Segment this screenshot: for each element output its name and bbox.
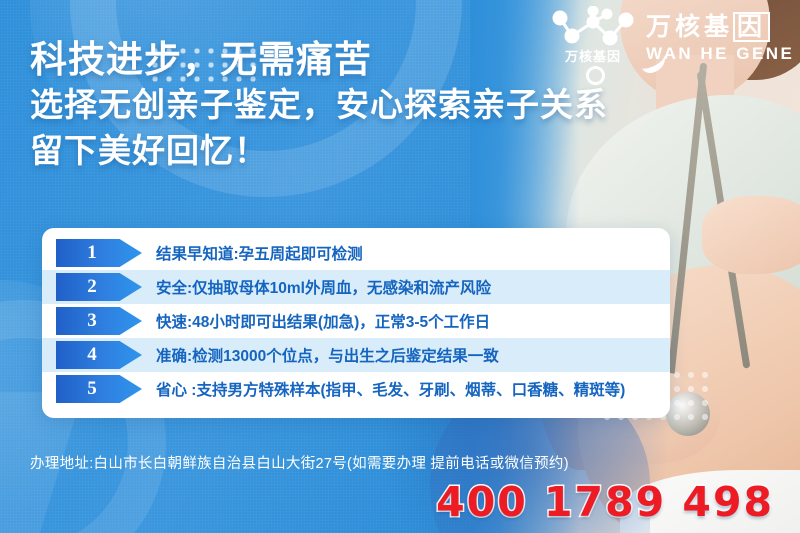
headline-line-3: 留下美好回忆！ xyxy=(30,128,608,174)
headline-block: 科技进步，无需痛苦 选择无创亲子鉴定，安心探索亲子关系 留下美好回忆！ xyxy=(30,38,608,174)
feature-text: 省心 :支持男方特殊样本(指甲、毛发、牙刷、烟蒂、口香糖、精斑等) xyxy=(156,378,625,400)
feature-number: 5 xyxy=(87,378,97,400)
feature-row: 5 省心 :支持男方特殊样本(指甲、毛发、牙刷、烟蒂、口香糖、精斑等) xyxy=(42,372,670,406)
brand-name-cn: 万核基因 xyxy=(646,12,794,42)
feature-row: 1 结果早知道:孕五周起即可检测 xyxy=(42,236,670,270)
feature-number-badge: 3 xyxy=(56,307,142,335)
feature-number-badge: 4 xyxy=(56,341,142,369)
feature-number: 4 xyxy=(87,344,97,366)
feature-row: 4 准确:检测13000个位点，与出生之后鉴定结果一致 xyxy=(42,338,670,372)
feature-number-badge: 2 xyxy=(56,273,142,301)
brand-name-cn-boxed: 因 xyxy=(733,12,770,42)
feature-text: 安全:仅抽取母体10ml外周血，无感染和流产风险 xyxy=(156,276,491,298)
feature-text: 准确:检测13000个位点，与出生之后鉴定结果一致 xyxy=(156,344,499,366)
hotline-phone-number: 400 1789 498 xyxy=(436,478,774,526)
headline-line-2: 选择无创亲子鉴定，安心探索亲子关系 xyxy=(30,82,608,128)
feature-list-card: 1 结果早知道:孕五周起即可检测 2 安全:仅抽取母体10ml外周血，无感染和流… xyxy=(42,228,670,418)
logo-mark-label: 万核基因 xyxy=(550,46,636,65)
brand-name-en: WAN HE GENE xyxy=(646,44,794,64)
feature-number-badge: 1 xyxy=(56,239,142,267)
brand-logo: 万核基因 万核基因 WAN HE GENE xyxy=(548,6,794,84)
feature-number: 2 xyxy=(87,276,97,298)
feature-text: 快速:48小时即可出结果(加急)，正常3-5个工作日 xyxy=(156,310,490,332)
feature-row: 3 快速:48小时即可出结果(加急)，正常3-5个工作日 xyxy=(42,304,670,338)
feature-text: 结果早知道:孕五周起即可检测 xyxy=(156,242,363,264)
headline-line-1: 科技进步，无需痛苦 xyxy=(30,38,608,82)
feature-number: 3 xyxy=(87,310,97,332)
logo-circle-icon xyxy=(586,66,605,85)
office-address: 办理地址:白山市长白朝鲜族自治县白山大街27号(如需要办理 提前电话或微信预约) xyxy=(30,452,569,473)
feature-number-badge: 5 xyxy=(56,375,142,403)
feature-number: 1 xyxy=(87,242,97,264)
brand-name-cn-main: 万核基 xyxy=(646,13,733,41)
molecule-nodes-icon: 万核基因 xyxy=(548,6,638,84)
feature-row: 2 安全:仅抽取母体10ml外周血，无感染和流产风险 xyxy=(42,270,670,304)
promo-banner: 万核基因 万核基因 WAN HE GENE 科技进步，无需痛苦 选择无创亲子鉴定… xyxy=(0,0,800,533)
